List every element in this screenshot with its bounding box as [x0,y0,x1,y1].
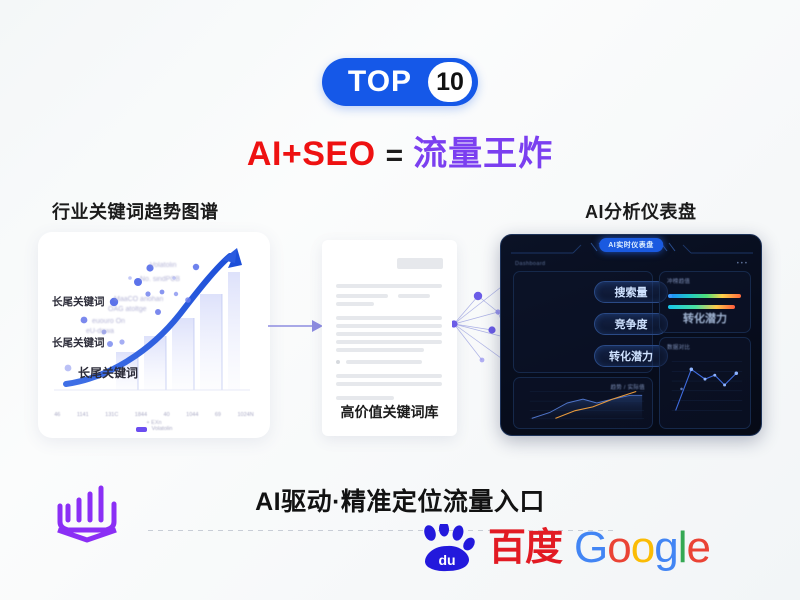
doc-line [336,316,442,320]
baidu-paw-icon: du [418,524,476,572]
x-tick-4: 40 [164,412,170,418]
blurred-label-6: eU-dgwa [86,328,114,335]
doc-title: 高价值关键词库 [322,402,457,422]
metric-pill-competition[interactable]: 竞争度 [594,313,668,335]
legend-swatch-icon [136,427,147,432]
top-badge: TOP 10 [322,58,478,106]
doc-line [398,294,430,298]
trend-chart: 长尾关键词 长尾关键词 长尾关键词 Volatolin No. sindPCB … [38,232,270,438]
doc-line [336,340,442,344]
doc-line [336,302,374,306]
x-tick-6: 69 [215,412,221,418]
headline-ai-seo: AI+SEO [247,135,376,174]
x-tick-5: 1044 [186,412,198,418]
section-label-keyword-trend: 行业关键词趋势图谱 [52,198,219,224]
keyword-trend-card: 长尾关键词 长尾关键词 长尾关键词 Volatolin No. sindPCB … [38,232,270,438]
keyword-tag-3: 长尾关键词 [78,364,138,381]
heat-marker-dot-2 [668,305,672,309]
google-letter-e: e [686,523,709,572]
flow-arrow-icon [268,318,324,334]
heat-overlay-label: 转化潜力 [660,310,750,326]
heat-gauge-panel: 冲榜趋值 转化潜力 [659,271,751,333]
trend-compare-panel: 数据对比 [659,337,751,429]
blurred-label-5: euouro On [92,318,125,325]
trend-chart-x-axis: 46 1141 131C 1844 40 1044 69 1024N [46,412,262,418]
doc-line [336,294,388,298]
page-title: AI+SEO = 流量王炸 [0,126,800,175]
heat-gradient-bar-2 [669,305,735,309]
mini-area-chart-panel: 趋势 / 实际值 [513,377,653,429]
top-badge-label: TOP [348,67,428,97]
heat-gauge-title: 冲榜趋值 [667,277,690,285]
keyword-library-document: 高价值关键词库 [322,240,457,436]
blurred-label-3: MaaCO anohan [114,296,163,303]
keyword-tag-1: 长尾关键词 [52,294,105,309]
doc-bullet-icon [336,360,340,364]
doc-line [346,360,422,364]
top-badge-number: 10 [428,62,472,102]
heat-gradient-bar-1 [669,294,741,298]
doc-header-block [397,258,443,269]
trend-chart-legend: Volatolin [38,426,270,432]
dashboard-menu-icon[interactable]: ••• [737,261,749,267]
keyword-tag-2: 长尾关键词 [52,335,105,350]
blurred-label-4: OAG atoltge [108,306,147,313]
blurred-label-1: Volatolin [150,262,176,269]
doc-line [336,396,394,400]
google-letter-g2: g [654,523,677,572]
metric-pill-search-volume[interactable]: 搜索量 [594,281,668,303]
trend-compare-chart [660,338,750,428]
google-wordmark: Google [574,526,710,570]
x-tick-2: 131C [105,412,118,418]
doc-line [336,284,442,288]
headline-equals: = [386,139,404,173]
doc-line [336,348,424,352]
doc-line [336,332,442,336]
dashboard-subtitle: Dashboard [515,261,546,267]
x-tick-7: 1024N [237,412,253,418]
section-label-ai-dashboard: AI分析仪表盘 [585,198,697,224]
google-letter-o2: o [631,523,654,572]
legend-label: Volatolin [152,426,173,432]
doc-line [336,374,442,378]
blurred-label-2: No. sindPCB [140,276,180,283]
top-badge-container: TOP 10 [0,58,800,106]
dashboard-title: AI实时仪表盘 [599,238,663,252]
doc-line [336,324,442,328]
google-letter-g1: G [574,523,607,572]
x-tick-1: 1141 [77,412,89,418]
x-tick-0: 46 [54,412,60,418]
google-letter-o1: o [607,523,630,572]
headline-result: 流量王炸 [413,126,553,175]
doc-line [336,382,442,386]
search-engine-logos: du 百度 Google [418,524,710,572]
metric-pill-conversion[interactable]: 转化潜力 [594,345,668,367]
baidu-du-text: du [438,552,455,568]
footer-tagline: AI驱动·精准定位流量入口 [0,482,800,518]
heat-marker-dot-1 [668,294,672,298]
mini-area-chart [514,378,652,428]
ai-dashboard-panel: AI实时仪表盘 Dashboard ••• 搜索量 竞争度 转化潜力 趋势 / … [500,234,762,436]
x-tick-3: 1844 [135,412,147,418]
baidu-wordmark: 百度 [488,529,562,567]
